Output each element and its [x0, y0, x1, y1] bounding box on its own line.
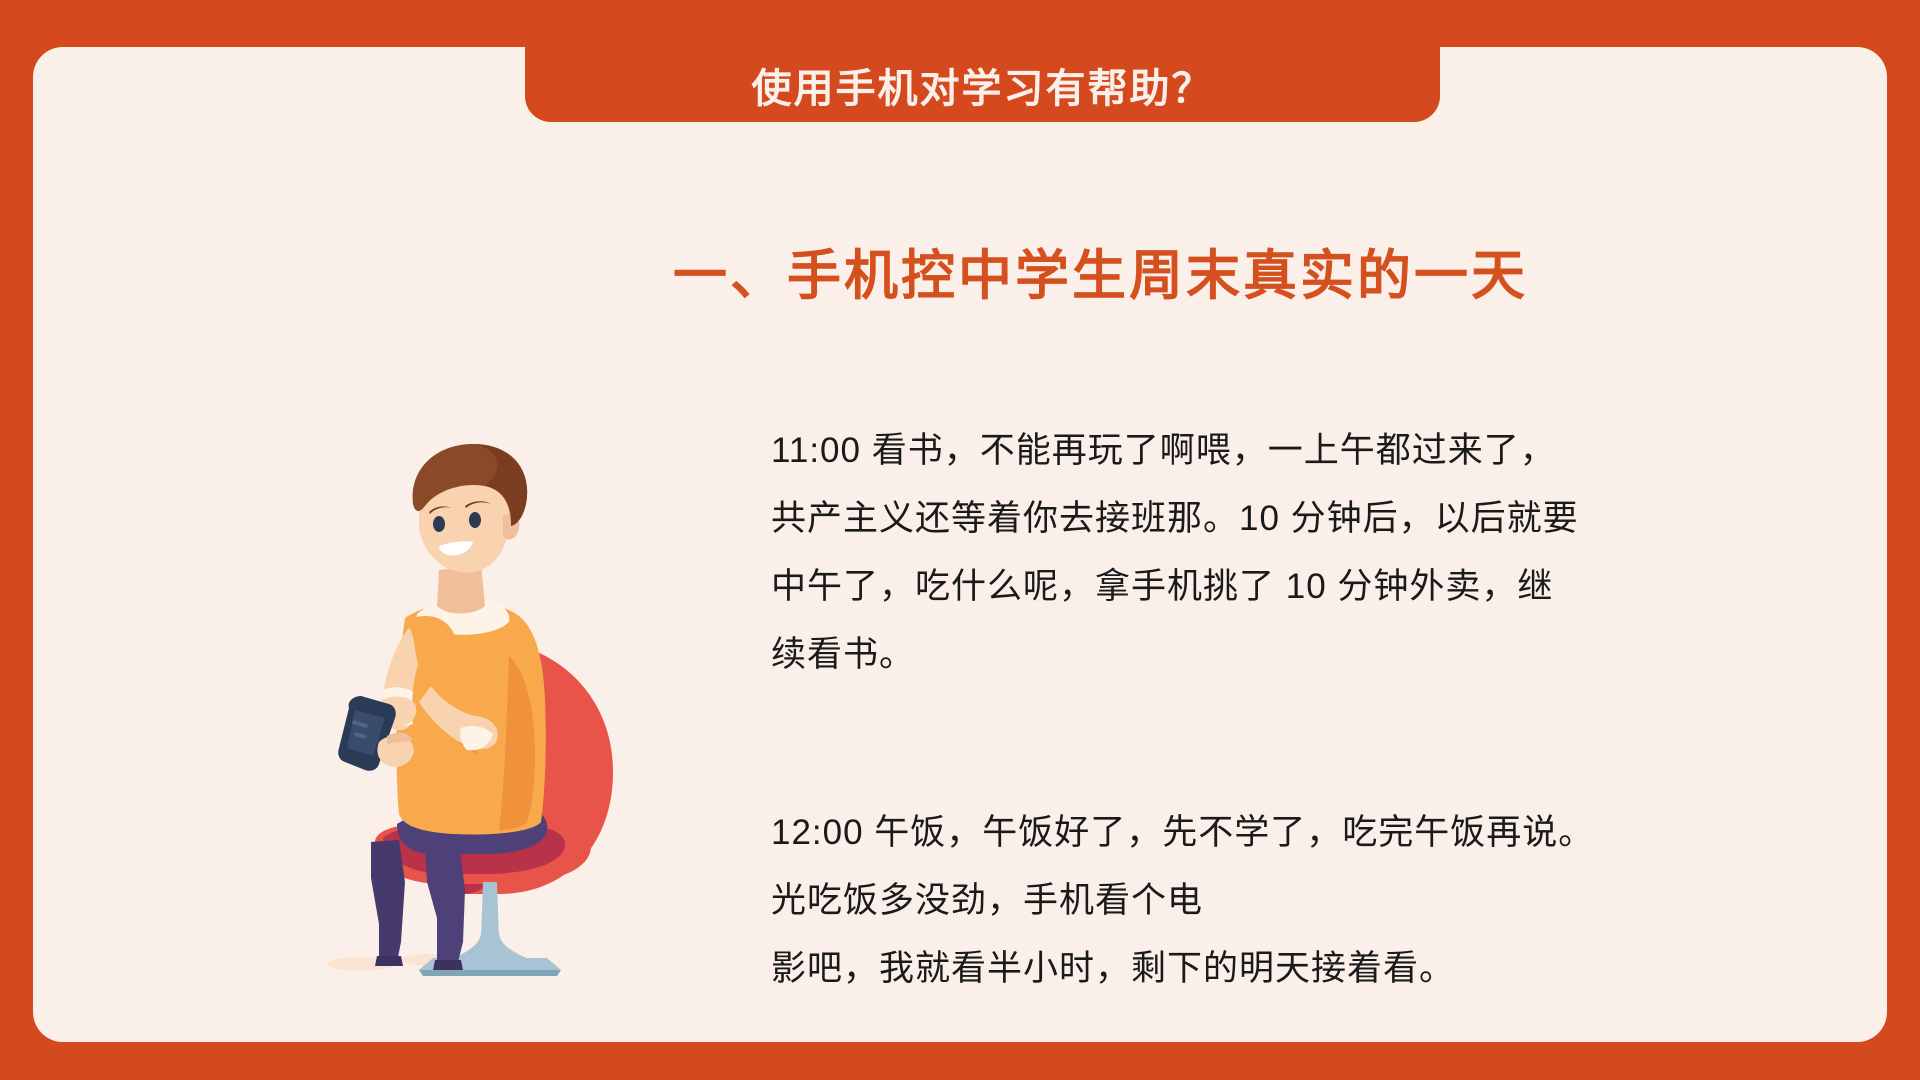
illustration-svg [313, 442, 653, 1022]
entry-1100-line-3: 中午了，吃什么呢，拿手机挑了 10 分钟外卖，继 [771, 553, 1721, 621]
content-card: 一、手机控中学生周末真实的一天 11:00 看书，不能再玩了啊喂，一上午都过来了… [33, 47, 1887, 1042]
header-tab-title: 使用手机对学习有帮助？ [752, 56, 1214, 114]
foot-front [433, 960, 463, 970]
entry-1100-line-2: 共产主义还等着你去接班那。10 分钟后，以后就要 [771, 485, 1721, 553]
foot-far [375, 956, 403, 966]
body-text-column: 11:00 看书，不能再玩了啊喂，一上午都过来了， 共产主义还等着你去接班那。1… [771, 417, 1721, 1003]
illustration-man-with-smartphone [313, 442, 653, 1022]
entry-1100-line-4: 续看书。 [771, 621, 1721, 689]
section-heading: 一、手机控中学生周末真实的一天 [673, 231, 1673, 310]
eye-left [433, 516, 445, 532]
leg-far [371, 840, 405, 962]
diary-entry-1100: 11:00 看书，不能再玩了啊喂，一上午都过来了， 共产主义还等着你去接班那。1… [771, 417, 1721, 689]
entry-1200-line-2: 光吃饭多没劲，手机看个电 [771, 867, 1721, 935]
chair-base-disc-shade [419, 970, 561, 976]
entry-1200-line-3: 影吧，我就看半小时，剩下的明天接着看。 [771, 935, 1721, 1003]
entry-1200-line-1: 12:00 午饭，午饭好了，先不学了，吃完午饭再说。 [771, 799, 1721, 867]
eye-right [469, 512, 481, 528]
shin-front [425, 842, 465, 966]
diary-entry-1200: 12:00 午饭，午饭好了，先不学了，吃完午饭再说。 光吃饭多没劲，手机看个电 … [771, 799, 1721, 1003]
entry-1100-line-1: 11:00 看书，不能再玩了啊喂，一上午都过来了， [771, 417, 1721, 485]
header-tab: 使用手机对学习有帮助？ [525, 0, 1440, 122]
chair-pedestal-column [481, 882, 499, 938]
